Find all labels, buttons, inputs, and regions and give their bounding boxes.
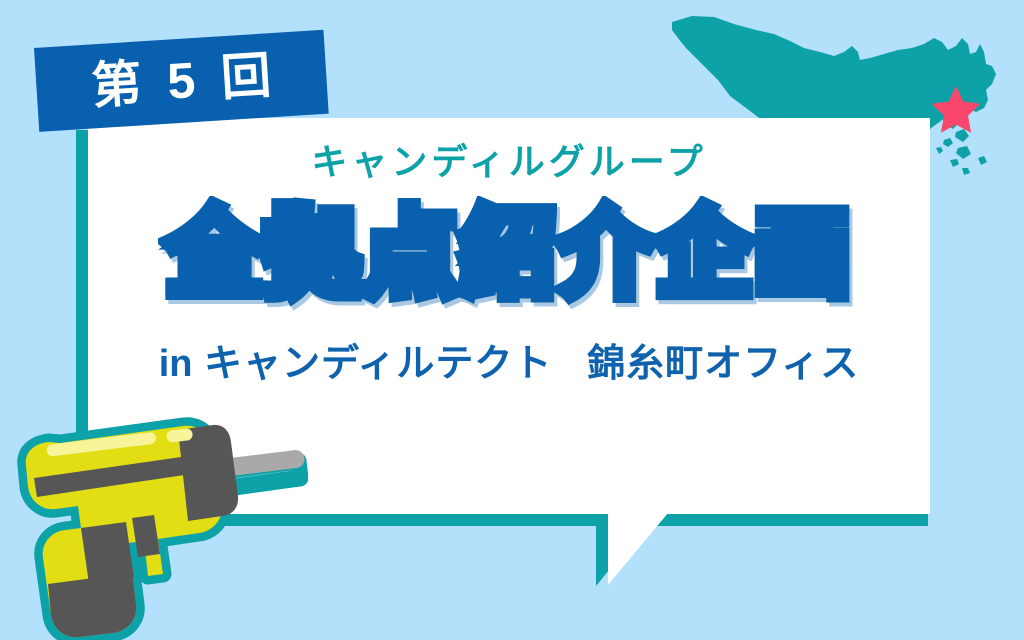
power-drill-illustration <box>8 408 308 640</box>
poster-canvas: キャンディルグループ 全拠点紹介企画 in キャンディルテクト 錦糸町オフィス … <box>0 0 1024 640</box>
eyebrow-text: キャンディルグループ <box>311 142 706 182</box>
headline-wrapper: 全拠点紹介企画 <box>166 196 852 314</box>
subtitle-main: キャンディルテクト <box>204 343 552 385</box>
drill-battery-base <box>48 573 136 637</box>
subtitle-prefix: in <box>159 343 193 385</box>
episode-ribbon-badge: 第 5 回 <box>34 30 329 132</box>
speech-bubble-tail <box>608 513 668 585</box>
page-title: 全拠点紹介企画 <box>166 203 852 307</box>
subtitle-location: 錦糸町オフィス <box>587 343 859 385</box>
episode-ribbon-label: 第 5 回 <box>84 50 278 112</box>
subtitle-line: in キャンディルテクト 錦糸町オフィス <box>159 344 860 386</box>
